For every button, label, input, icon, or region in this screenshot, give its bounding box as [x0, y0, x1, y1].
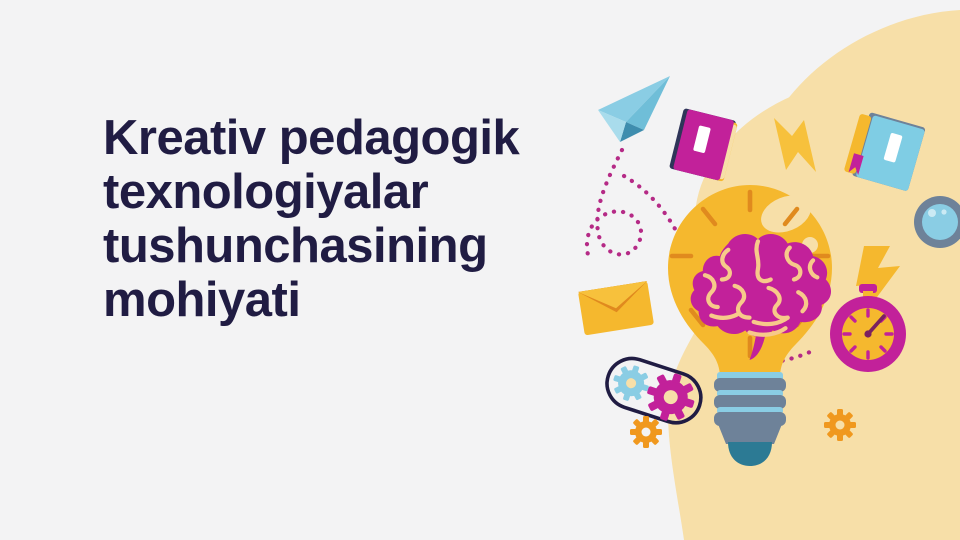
gear-small-icon [824, 409, 856, 441]
stopwatch-icon [830, 284, 906, 372]
background-blob-lobe [695, 96, 816, 270]
blob-white-notch [659, 92, 756, 140]
lightbulb-icon [668, 185, 832, 378]
gear-small-icon [630, 416, 662, 448]
background-blob-shape [668, 10, 960, 540]
brain-icon [691, 234, 831, 360]
page-title: Kreativ pedagogik texnologiyalar tushunc… [103, 112, 623, 328]
book-magenta-icon [669, 108, 738, 182]
lightning-bolt-icon [856, 246, 900, 312]
title-block: Kreativ pedagogik texnologiyalar tushunc… [103, 112, 623, 328]
lightning-bolt-icon [774, 118, 816, 172]
book-blue-icon [843, 110, 926, 192]
gear-capsule-icon [601, 352, 708, 429]
gear-magenta-icon [640, 367, 700, 427]
bulb-rays [672, 192, 828, 356]
magnifier-icon [914, 196, 960, 248]
bulb-base-icon [714, 372, 786, 466]
slide-canvas: Kreativ pedagogik texnologiyalar tushunc… [0, 0, 960, 540]
gear-blue-icon [608, 361, 653, 406]
